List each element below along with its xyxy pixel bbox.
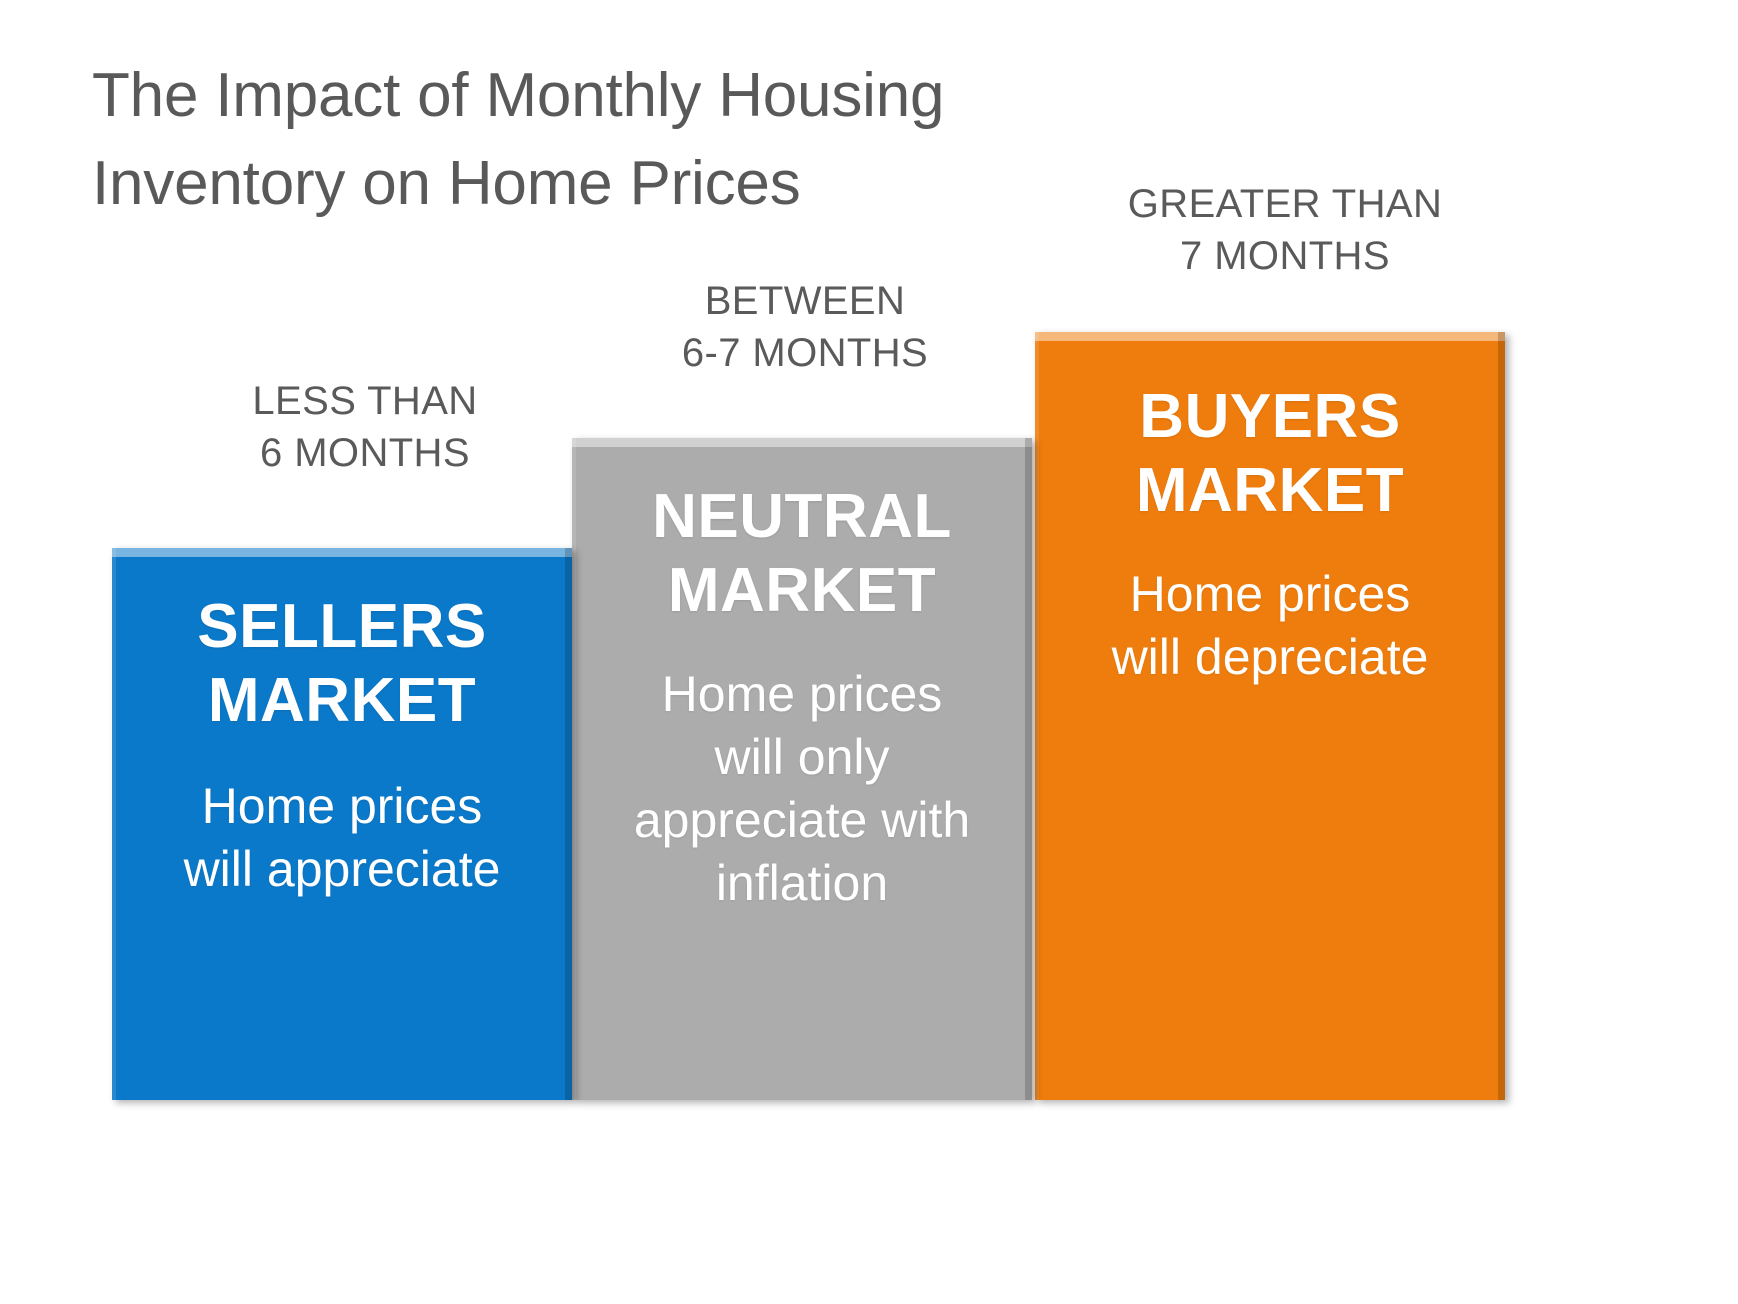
bar-subtext-buyers: Home prices will depreciate	[1049, 563, 1491, 689]
bar-sellers-market: SELLERS MARKET Home prices will apprecia…	[112, 548, 572, 1100]
bar-content: NEUTRAL MARKET Home prices will only app…	[572, 438, 1032, 915]
bar-buyers-market: BUYERS MARKET Home prices will depreciat…	[1035, 332, 1505, 1100]
bar-headline-neutral: NEUTRAL MARKET	[586, 480, 1018, 629]
bar-caption-neutral: BETWEEN 6-7 MONTHS	[585, 275, 1025, 379]
bar-subtext-neutral: Home prices will only appreciate with in…	[586, 663, 1018, 915]
bar-caption-buyers: GREATER THAN 7 MONTHS	[1035, 178, 1535, 282]
bar-caption-sellers: LESS THAN 6 MONTHS	[115, 375, 615, 479]
bar-headline-buyers: BUYERS MARKET	[1049, 380, 1491, 529]
infographic-canvas: The Impact of Monthly Housing Inventory …	[0, 0, 1738, 1304]
bar-subtext-sellers: Home prices will appreciate	[126, 775, 558, 901]
bar-headline-sellers: SELLERS MARKET	[126, 590, 558, 739]
bar-neutral-market: NEUTRAL MARKET Home prices will only app…	[572, 438, 1032, 1100]
bar-content: SELLERS MARKET Home prices will apprecia…	[112, 548, 572, 901]
bar-content: BUYERS MARKET Home prices will depreciat…	[1035, 332, 1505, 689]
